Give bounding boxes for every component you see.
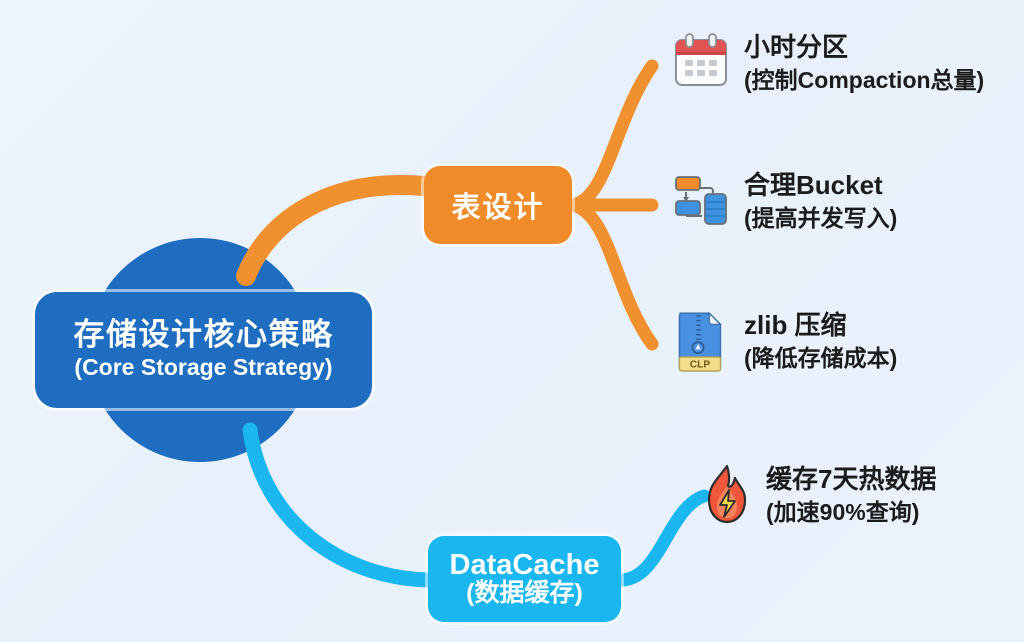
leaf-item-zlib[interactable]: CLP zlib 压缩 (降低存储成本): [672, 308, 897, 374]
leaf-subtitle-zlib: (降低存储成本): [744, 344, 897, 373]
branch-label-datacache: DataCache: [450, 550, 600, 580]
svg-text:CLP: CLP: [690, 360, 711, 371]
connector-datacache-to-hot-data: [621, 496, 704, 580]
bucket-flow-icon: [672, 170, 730, 234]
root-subtitle: (Core Storage Strategy): [74, 354, 332, 382]
connector-root-to-table-design: [246, 185, 424, 276]
connector-root-to-datacache: [250, 430, 428, 580]
calendar-icon: [672, 32, 730, 96]
leaf-text-hot-data: 缓存7天热数据 (加速90%查询): [766, 462, 936, 527]
connector-table-design-to-zlib: [572, 205, 652, 344]
leaf-subtitle-hot-data: (加速90%查询): [766, 498, 936, 527]
leaf-title-zlib: zlib 压缩: [744, 310, 897, 341]
leaf-title-hot-data: 缓存7天热数据: [766, 464, 936, 495]
mindmap-canvas: 存储设计核心策略 (Core Storage Strategy) 表设计 Dat…: [0, 0, 1024, 642]
leaf-text-hour-partition: 小时分区 (控制Compaction总量): [744, 30, 984, 95]
leaf-text-zlib: zlib 压缩 (降低存储成本): [744, 308, 897, 373]
leaf-item-hour-partition[interactable]: 小时分区 (控制Compaction总量): [672, 30, 984, 96]
branch-label-table-design: 表设计: [451, 184, 544, 226]
root-node[interactable]: 存储设计核心策略 (Core Storage Strategy): [35, 292, 372, 408]
zip-file-icon: CLP: [672, 310, 730, 374]
leaf-text-bucket: 合理Bucket (提高并发写入): [744, 168, 897, 233]
leaf-item-bucket[interactable]: 合理Bucket (提高并发写入): [672, 168, 897, 234]
leaf-item-hot-data[interactable]: 缓存7天热数据 (加速90%查询): [700, 462, 936, 528]
leaf-title-bucket: 合理Bucket: [744, 170, 897, 201]
branch-sublabel-datacache: (数据缓存): [466, 580, 583, 608]
leaf-subtitle-hour-partition: (控制Compaction总量): [744, 66, 984, 95]
branch-node-table-design[interactable]: 表设计: [424, 166, 572, 244]
branch-node-datacache[interactable]: DataCache (数据缓存): [428, 536, 621, 622]
leaf-subtitle-bucket: (提高并发写入): [744, 204, 897, 233]
fire-icon: [700, 464, 754, 528]
connector-table-design-to-hour-partition: [572, 66, 652, 205]
root-title: 存储设计核心策略: [74, 318, 334, 353]
leaf-title-hour-partition: 小时分区: [744, 32, 984, 63]
